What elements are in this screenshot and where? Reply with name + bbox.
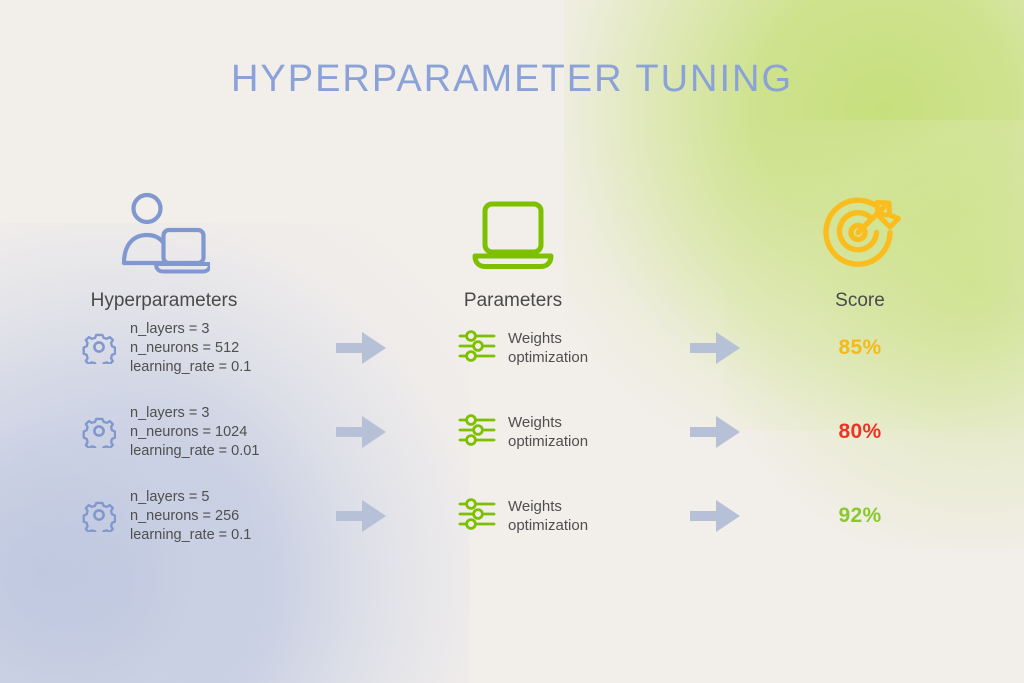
param-line: learning_rate = 0.1	[130, 359, 251, 375]
laptop-icon	[392, 188, 634, 274]
arrow-right-icon	[336, 474, 388, 558]
parameters-line: optimization	[508, 433, 588, 450]
arrow-right-icon	[336, 390, 388, 474]
parameters-cell: Weights optimization	[458, 306, 668, 390]
pipeline-row: n_layers = 5 n_neurons = 256 learning_ra…	[0, 474, 1024, 558]
hyperparameters-values: n_layers = 3 n_neurons = 1024 learning_r…	[130, 404, 259, 461]
score-value: 92%	[839, 504, 882, 528]
score-cell: 80%	[739, 390, 981, 474]
gear-icon	[82, 330, 116, 369]
parameters-line: Weights	[508, 330, 562, 347]
score-cell: 85%	[739, 306, 981, 390]
param-line: n_layers = 5	[130, 489, 209, 505]
column-header-hyperparameters: Hyperparameters	[43, 188, 285, 312]
arrow-right-icon	[690, 390, 742, 474]
score-cell: 92%	[739, 474, 981, 558]
parameters-cell: Weights optimization	[458, 390, 668, 474]
pipeline-row: n_layers = 3 n_neurons = 1024 learning_r…	[0, 390, 1024, 474]
hyperparameters-cell: n_layers = 5 n_neurons = 256 learning_ra…	[82, 474, 327, 558]
param-line: learning_rate = 0.1	[130, 527, 251, 543]
target-dart-icon	[739, 188, 981, 274]
sliders-icon	[458, 497, 496, 536]
param-line: n_neurons = 1024	[130, 424, 247, 440]
hyperparameters-cell: n_layers = 3 n_neurons = 512 learning_ra…	[82, 306, 327, 390]
arrow-right-icon	[690, 474, 742, 558]
hyperparameters-cell: n_layers = 3 n_neurons = 1024 learning_r…	[82, 390, 327, 474]
gear-icon	[82, 414, 116, 453]
arrow-right-icon	[690, 306, 742, 390]
parameters-text: Weights optimization	[508, 413, 588, 451]
arrow-right-icon	[336, 306, 388, 390]
parameters-text: Weights optimization	[508, 329, 588, 367]
sliders-icon	[458, 329, 496, 368]
infographic-canvas: HYPERPARAMETER TUNING Hyperparameters Pa…	[0, 0, 1024, 683]
score-value: 80%	[839, 420, 882, 444]
sliders-icon	[458, 413, 496, 452]
hyperparameters-values: n_layers = 3 n_neurons = 512 learning_ra…	[130, 320, 251, 377]
parameters-text: Weights optimization	[508, 497, 588, 535]
param-line: n_layers = 3	[130, 321, 209, 337]
hyperparameters-values: n_layers = 5 n_neurons = 256 learning_ra…	[130, 488, 251, 545]
pipeline-row: n_layers = 3 n_neurons = 512 learning_ra…	[0, 306, 1024, 390]
gear-icon	[82, 498, 116, 537]
param-line: n_layers = 3	[130, 405, 209, 421]
page-title: HYPERPARAMETER TUNING	[0, 58, 1024, 101]
parameters-cell: Weights optimization	[458, 474, 668, 558]
parameters-line: optimization	[508, 517, 588, 534]
parameters-line: Weights	[508, 498, 562, 515]
param-line: n_neurons = 512	[130, 340, 239, 356]
param-line: learning_rate = 0.01	[130, 443, 259, 459]
score-value: 85%	[839, 336, 882, 360]
param-line: n_neurons = 256	[130, 508, 239, 524]
column-header-score: Score	[739, 188, 981, 312]
parameters-line: Weights	[508, 414, 562, 431]
parameters-line: optimization	[508, 349, 588, 366]
column-header-parameters: Parameters	[392, 188, 634, 312]
person-laptop-icon	[43, 188, 285, 274]
